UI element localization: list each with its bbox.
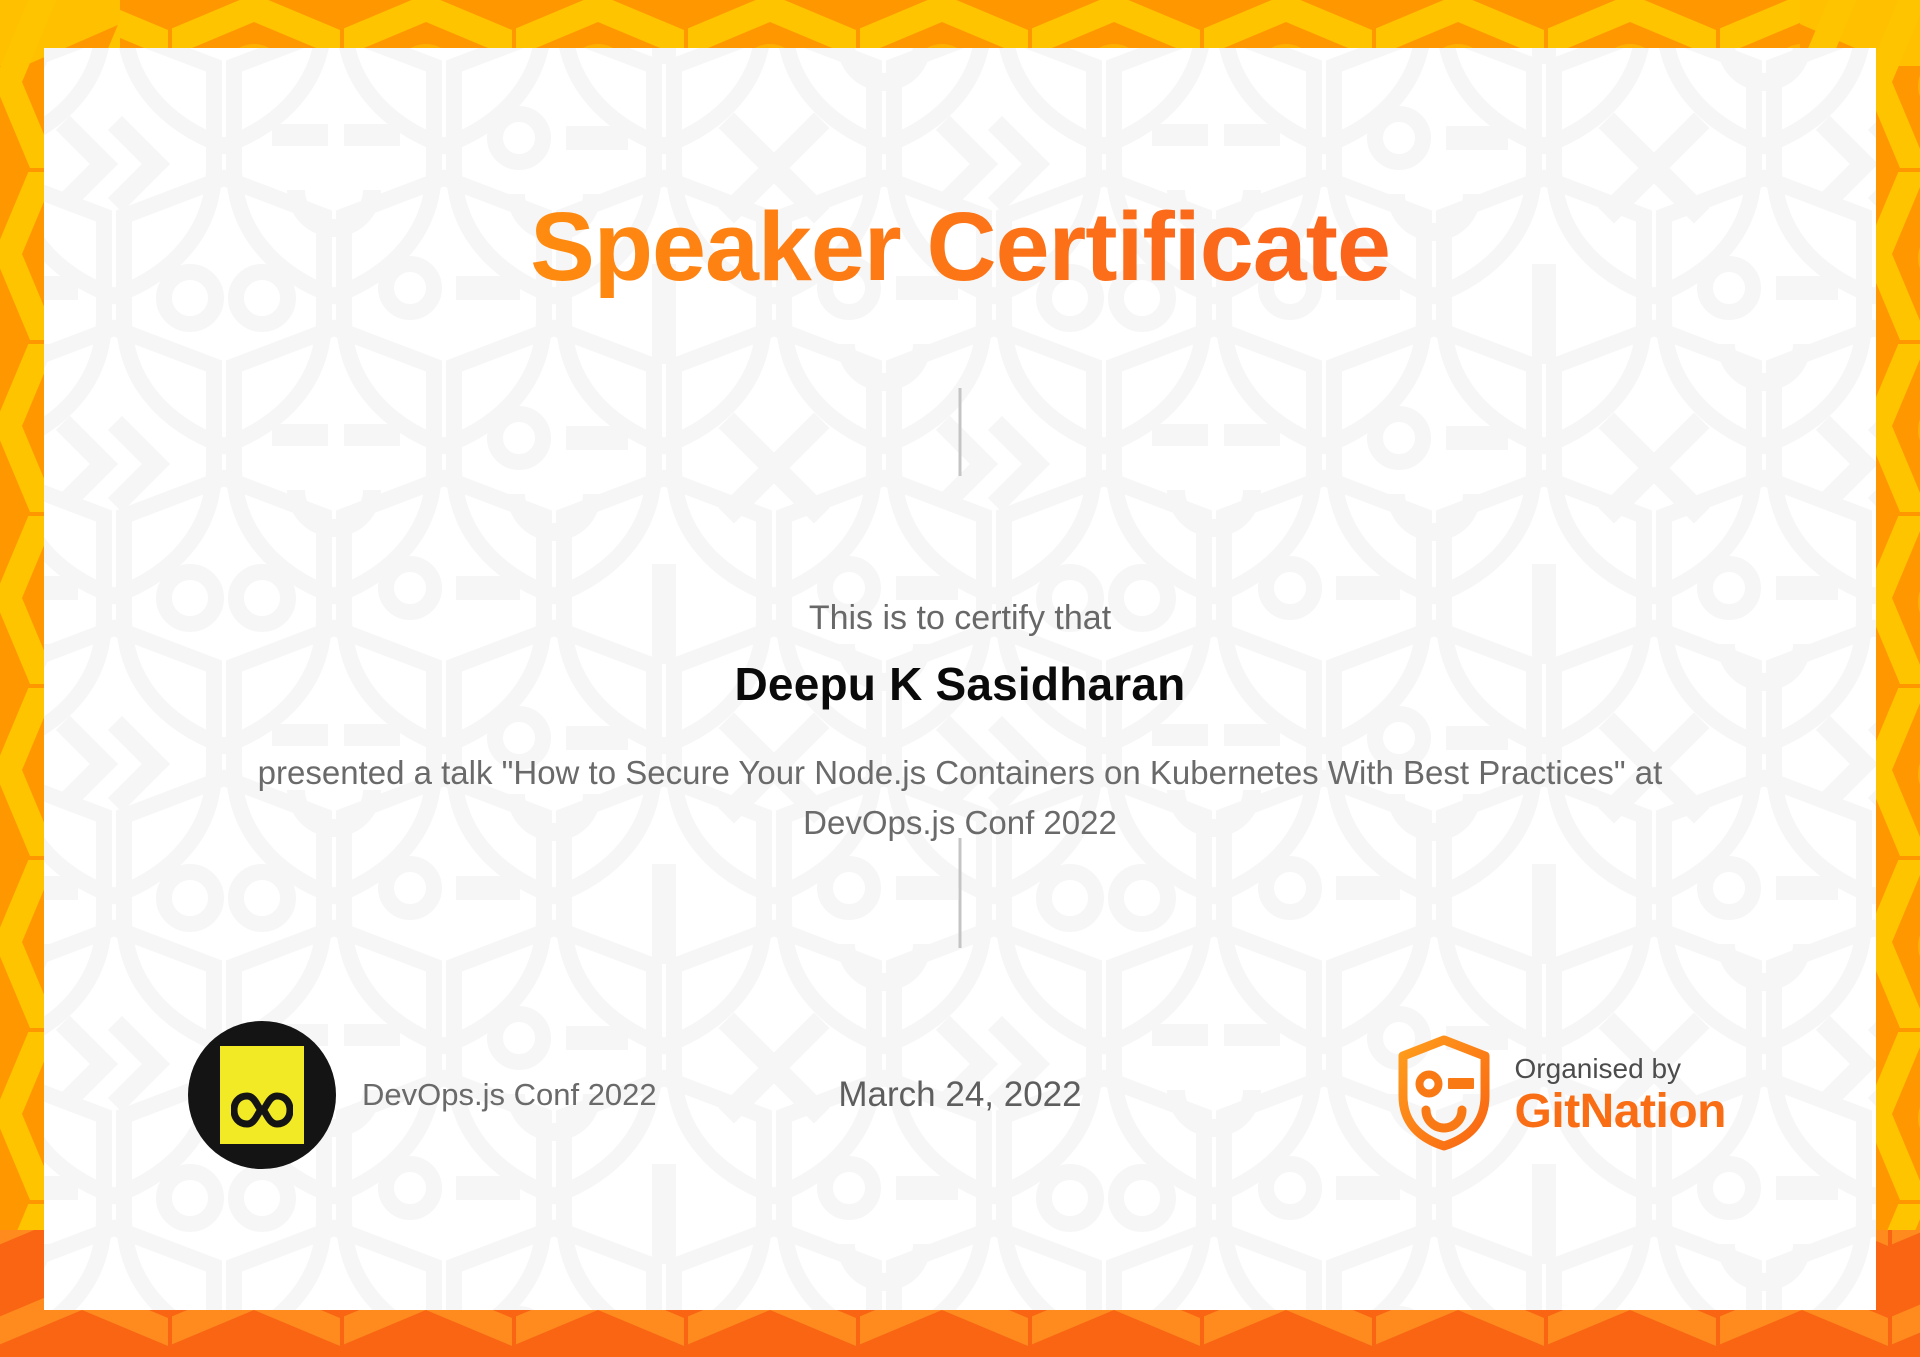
recipient-name: Deepu K Sasidharan bbox=[44, 657, 1876, 711]
certificate-date: March 24, 2022 bbox=[838, 1075, 1081, 1115]
page-title: Speaker Certificate bbox=[44, 196, 1876, 298]
organiser-name: GitNation bbox=[1515, 1086, 1726, 1139]
gitnation-shield-icon bbox=[1395, 1034, 1493, 1157]
certificate-page: Speaker Certificate This is to certify t… bbox=[44, 48, 1876, 1310]
speaker-certificate: Speaker Certificate This is to certify t… bbox=[0, 0, 1920, 1357]
certificate-footer: DevOps.js Conf 2022 March 24, 2022 bbox=[44, 1020, 1876, 1170]
divider-top bbox=[959, 388, 962, 476]
certify-line: This is to certify that bbox=[44, 599, 1876, 638]
talk-description: presented a talk "How to Secure Your Nod… bbox=[44, 748, 1876, 848]
divider-bottom bbox=[959, 838, 962, 948]
organised-by-label: Organised by bbox=[1515, 1051, 1726, 1086]
organiser-block: Organised by GitNation bbox=[1395, 1020, 1726, 1170]
